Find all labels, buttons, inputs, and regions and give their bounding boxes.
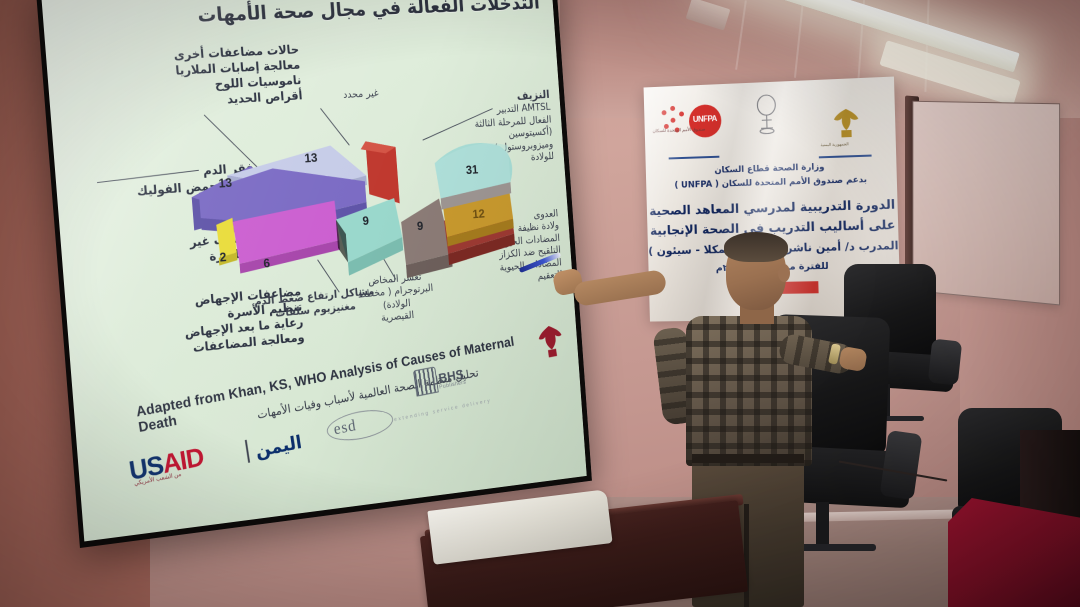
pie-value-haemorrhage: 31: [465, 162, 478, 177]
pie-value-other: 13: [304, 150, 318, 165]
callout-top-left: حالات مضاعفات أخرى معالجة إصابات الملاري…: [84, 42, 303, 115]
callout-undefined: غير محدد: [321, 86, 401, 103]
presenter-right-hand: [838, 346, 867, 372]
presentation-slide: التدخلات الفعالة في مجال صحة الأمهات حال…: [41, 0, 587, 541]
center-emblem-icon: [751, 93, 782, 134]
presentation-room-photo: التدخلات الفعالة في مجال صحة الأمهات حال…: [0, 0, 1080, 607]
pie-value-infection: 12: [472, 206, 485, 221]
presenter-belt: [692, 454, 804, 463]
pie-value-abortion: 6: [263, 256, 271, 271]
yemen-emblem-caption: الجمهورية اليمنية: [820, 141, 848, 147]
pie-chart: 13 13 2 6 9 9 31 12: [168, 117, 533, 324]
yemen-emblem-icon: [535, 322, 568, 363]
pie-value-indirect: 2: [219, 249, 227, 264]
esd-logo-tagline: extending service delivery: [394, 398, 492, 423]
usaid-divider: [245, 440, 250, 463]
projection-screen: التدخلات الفعالة في مجال صحة الأمهات حال…: [36, 0, 592, 548]
pie-value-obstructed: 9: [416, 219, 423, 233]
slide-title: التدخلات الفعالة في مجال صحة الأمهات: [170, 0, 540, 28]
presenter-ear: [778, 264, 790, 282]
usaid-country-label: اليمن: [254, 432, 303, 462]
unfpa-logo: UNFPA: [661, 102, 722, 144]
bhs-logo-mark: [413, 366, 439, 396]
pie-value-other-direct: 13: [218, 175, 232, 190]
yemen-state-emblem-icon: [832, 106, 861, 141]
pie-value-hypertension: 9: [362, 213, 369, 228]
unfpa-logo-text: UNFPA: [693, 114, 717, 124]
presenter-hair: [724, 232, 788, 262]
banner-title-line-1: الدورة التدريبية لمدرسي المعاهد الصحية: [647, 196, 898, 218]
dark-red-cloth: [948, 498, 1080, 607]
slice-undefined: [360, 140, 400, 206]
